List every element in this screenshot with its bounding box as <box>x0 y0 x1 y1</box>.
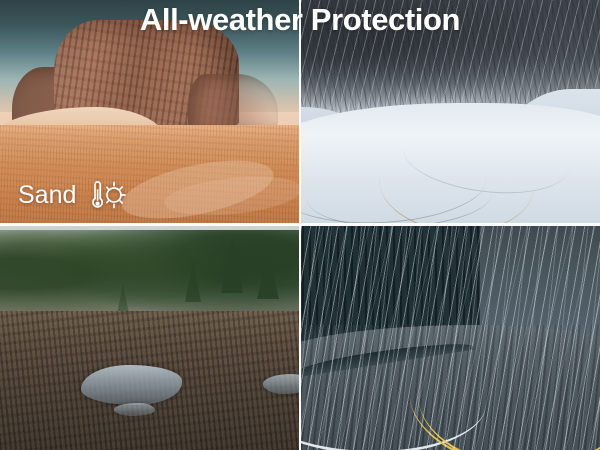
tile-rain[interactable]: Rain <box>301 226 600 450</box>
label-sand: Sand <box>18 178 128 212</box>
label-sand-text: Sand <box>18 183 76 208</box>
tile-mud[interactable]: Mud <box>0 226 299 450</box>
all-weather-banner: Sand <box>0 0 600 450</box>
page-title: All-weather Protection <box>0 2 600 38</box>
thermometer-sun-icon <box>84 178 128 212</box>
mud-evergreen <box>257 253 279 299</box>
mud-evergreen <box>117 284 129 314</box>
mud-evergreen <box>185 262 201 302</box>
grid-divider-horizontal <box>0 223 600 226</box>
mud-puddle <box>263 374 299 394</box>
mud-evergreen <box>221 239 243 293</box>
